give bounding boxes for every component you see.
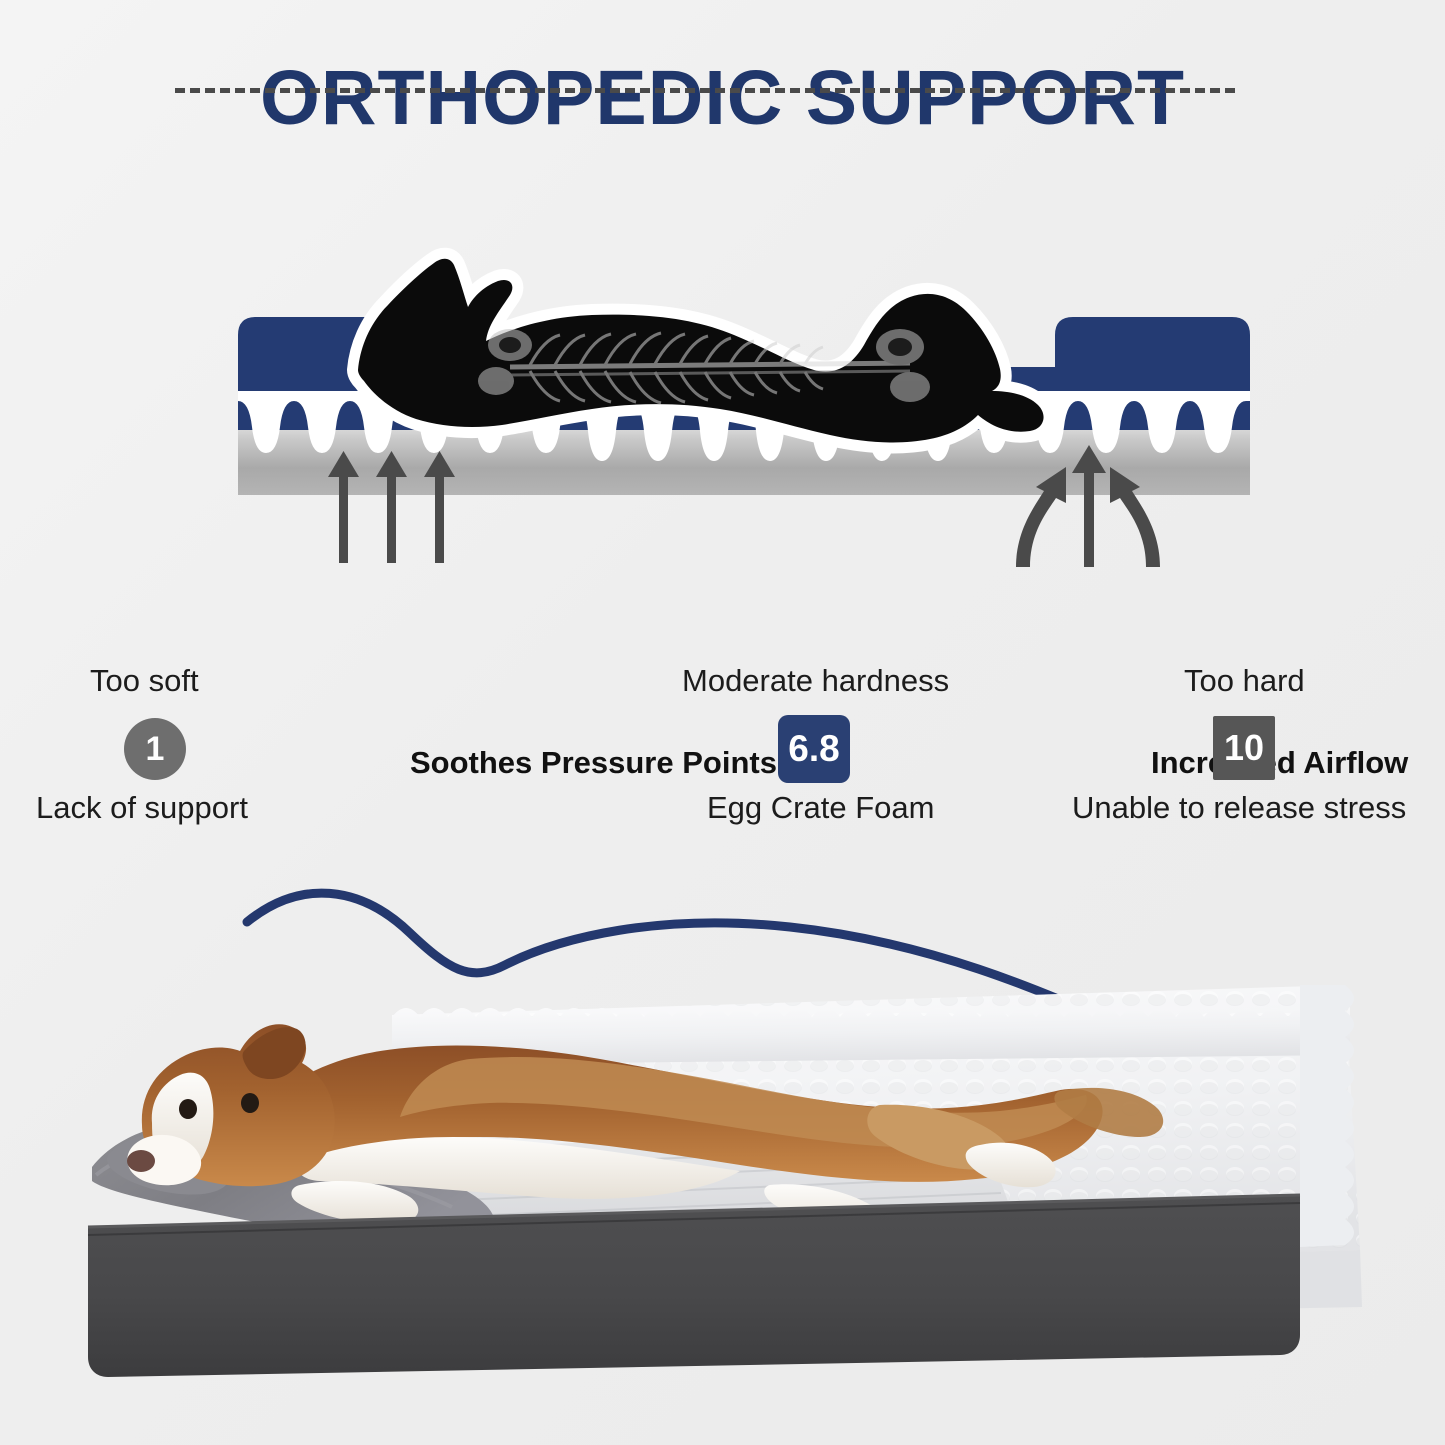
foam-cross-section-diagram: Soothes Pressure Points Increased Airflo… bbox=[210, 195, 1280, 615]
dog-xray-silhouette bbox=[358, 259, 1044, 443]
pressure-arrows-icon bbox=[328, 451, 455, 563]
scale-left-bottom-label: Lack of support bbox=[36, 790, 248, 826]
scale-dashed-axis bbox=[175, 88, 1235, 93]
infographic-page: ORTHOPEDIC SUPPORT bbox=[0, 0, 1445, 1445]
scale-right-bottom-label: Unable to release stress bbox=[1072, 790, 1406, 826]
scale-middle-bottom-label: Egg Crate Foam bbox=[707, 790, 934, 826]
scale-middle-top-label: Moderate hardness bbox=[682, 663, 949, 699]
soothes-pressure-points-label: Soothes Pressure Points bbox=[410, 745, 777, 781]
scale-marker-max[interactable]: 10 bbox=[1213, 716, 1275, 780]
scale-marker-min[interactable]: 1 bbox=[124, 718, 186, 780]
increased-airflow-label: Increased Airflow bbox=[1151, 745, 1408, 781]
product-photo bbox=[0, 855, 1445, 1445]
scale-left-top-label: Too soft bbox=[90, 663, 199, 699]
scale-marker-current[interactable]: 6.8 bbox=[778, 715, 850, 783]
page-title: ORTHOPEDIC SUPPORT bbox=[0, 58, 1445, 139]
scale-right-top-label: Too hard bbox=[1184, 663, 1305, 699]
bed-base bbox=[88, 1195, 1300, 1377]
